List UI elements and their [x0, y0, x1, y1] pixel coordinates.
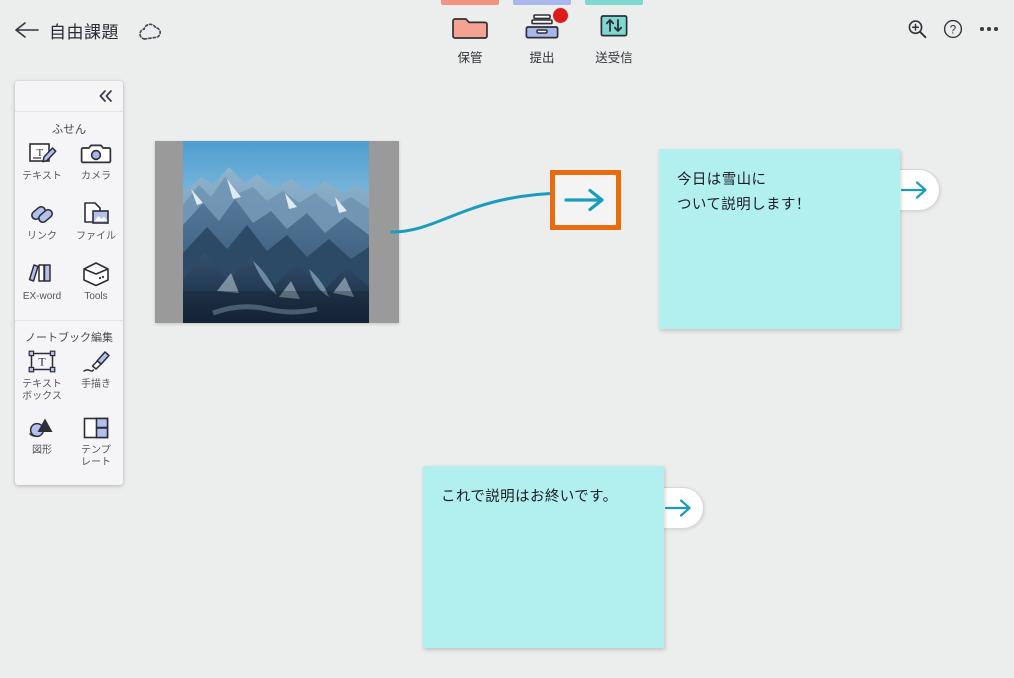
top-bar: 自由課題 保管: [0, 0, 1014, 72]
link-chain-icon: [25, 199, 59, 229]
back-button[interactable]: [12, 16, 42, 44]
sidebar-item-camera[interactable]: カメラ: [69, 137, 123, 195]
sidebar-divider-mid: [15, 320, 123, 321]
tab-color-bar-storage: [441, 0, 499, 5]
sidebar-section-title-fusen: ふせん: [15, 121, 123, 137]
ellipsis-glyph: [980, 27, 998, 31]
question-circle-glyph: ?: [942, 18, 964, 40]
folder-icon: [451, 10, 489, 42]
chevron-double-left-icon: [97, 89, 115, 103]
tab-color-bar-send-receive: [585, 0, 643, 5]
toolbar-label-submit: 提出: [509, 47, 575, 66]
toolbar-item-send-receive[interactable]: 送受信: [581, 0, 647, 72]
sidebar-grid-notebook: T テキスト ボックス 手描き: [15, 345, 123, 475]
sidebar-section-title-notebook: ノートブック編集: [15, 329, 123, 345]
toolbar-label-storage: 保管: [437, 47, 503, 66]
svg-text:T: T: [37, 147, 44, 159]
sidebar-item-link[interactable]: リンク: [15, 197, 69, 255]
send-receive-icon: [595, 10, 633, 42]
sidebar-divider-top: [15, 111, 123, 112]
sticky-note-intro-text: 今日は雪山に ついて説明します！: [677, 168, 886, 218]
template-grid-icon: [79, 413, 113, 443]
sidebar-label-template: テンプ レート: [81, 445, 111, 468]
sidebar-label-ex-word: EX-word: [23, 291, 61, 303]
marker-pen-icon: [79, 347, 113, 377]
camera-icon: [79, 139, 113, 169]
sidebar-label-file: ファイル: [76, 231, 116, 243]
file-image-icon: [79, 199, 113, 229]
sidebar-item-text-box[interactable]: T テキスト ボックス: [15, 345, 69, 415]
arrow-right-icon: [900, 179, 930, 201]
sticky-note-outro-text: これで説明はお終いです。: [441, 485, 650, 510]
toolbar-item-storage[interactable]: 保管: [437, 0, 503, 72]
mountain-photo-art: [183, 141, 369, 323]
svg-text:T: T: [38, 355, 46, 369]
sidebar-item-shapes[interactable]: 図形: [15, 411, 69, 469]
app-root: 自由課題 保管: [0, 0, 1014, 678]
sidebar-collapse-button[interactable]: [93, 85, 119, 107]
ex-word-books-icon: [25, 259, 59, 289]
sidebar-label-text-box: テキスト ボックス: [22, 379, 62, 402]
sidebar-item-handwriting[interactable]: 手描き: [69, 345, 123, 415]
zoom-in-icon[interactable]: [902, 14, 932, 44]
toolbar-actions: 保管 提出: [437, 0, 652, 72]
sidebar-label-camera: カメラ: [81, 171, 111, 183]
toolbar-item-submit[interactable]: 提出: [509, 0, 575, 72]
tab-color-bar-submit: [513, 0, 571, 5]
selected-arrow-highlight[interactable]: [550, 170, 621, 230]
sticky-note-intro[interactable]: 今日は雪山に ついて説明します！: [659, 149, 900, 329]
sidebar-item-tools[interactable]: Tools: [69, 257, 123, 315]
sticky-note-outro[interactable]: これで説明はお終いです。: [423, 466, 664, 648]
more-options-icon[interactable]: [974, 14, 1004, 44]
text-note-icon: T: [25, 139, 59, 169]
sidebar-label-tools: Tools: [84, 291, 107, 303]
cloud-dashed-icon: [137, 19, 163, 43]
sidebar-item-template[interactable]: テンプ レート: [69, 411, 123, 469]
help-icon[interactable]: ?: [938, 14, 968, 44]
sidebar-label-handwriting: 手描き: [81, 379, 111, 391]
tools-sidebar: ふせん T テキスト カメラ: [15, 81, 123, 485]
sidebar-item-file[interactable]: ファイル: [69, 197, 123, 255]
magnifier-plus-glyph: [906, 18, 928, 40]
submit-notification-badge: [553, 8, 568, 23]
mountain-photo: [183, 141, 369, 323]
sidebar-label-link: リンク: [27, 231, 57, 243]
mountain-photo-card[interactable]: [155, 141, 399, 323]
text-box-icon: T: [25, 347, 59, 377]
connector-line: [390, 180, 570, 242]
shapes-icon: [25, 413, 59, 443]
sidebar-label-text: テキスト: [22, 171, 62, 183]
toolbar-label-send-receive: 送受信: [581, 47, 647, 66]
arrow-right-icon: [563, 187, 609, 213]
sidebar-label-shapes: 図形: [32, 445, 52, 457]
sidebar-grid-fusen: T テキスト カメラ: [15, 137, 123, 317]
svg-text:?: ?: [950, 24, 956, 36]
arrow-right-icon: [664, 497, 694, 519]
sidebar-item-text[interactable]: T テキスト: [15, 137, 69, 195]
tools-box-icon: [79, 259, 113, 289]
page-title: 自由課題: [49, 18, 119, 43]
sidebar-item-ex-word[interactable]: EX-word: [15, 257, 69, 315]
back-arrow-icon: [14, 20, 40, 40]
